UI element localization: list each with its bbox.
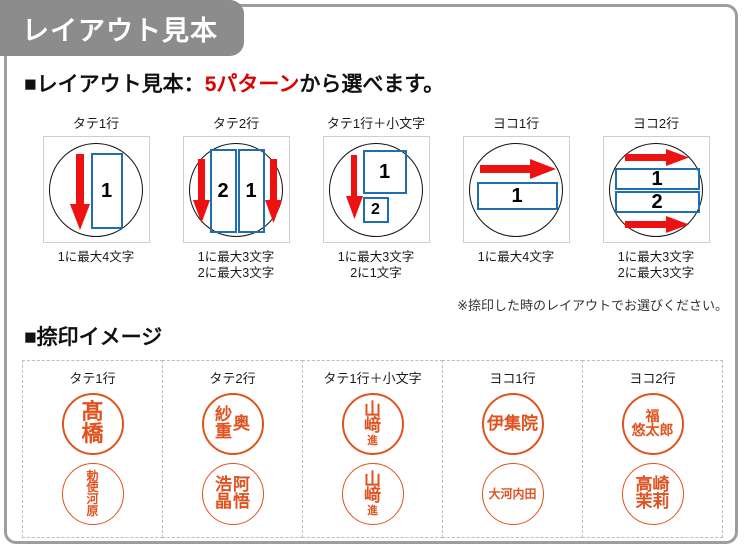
seal-column-1: 奥 xyxy=(233,416,250,433)
seal-char: 太 xyxy=(646,424,660,438)
seal-impression: 勅 使 河 原 xyxy=(62,463,124,525)
pattern-diagram: 1 xyxy=(463,136,570,243)
pattern-diagram: 1 2 xyxy=(323,136,430,243)
seal-impression: 山 﨑 進 xyxy=(342,393,404,455)
seal-group: 髙 橋 勅 使 河 原 xyxy=(62,393,124,525)
pattern-title: タテ2行 xyxy=(213,113,259,132)
panel-title: ヨコ1行 xyxy=(489,368,535,387)
seal-text-horizontal: 伊 集 院 xyxy=(487,416,538,433)
panel-title: タテ1行＋小文字 xyxy=(323,368,421,387)
seal-column-2: 紗 重 xyxy=(215,407,232,440)
pattern-tate-2gyo[interactable]: タテ2行 2 1 1に最大3文字 2に最大3文字 xyxy=(166,113,306,281)
text-area-box-1: 1 xyxy=(238,149,265,233)
seal-text-vertical: 髙 橋 xyxy=(81,402,103,445)
pattern-tate-1gyo[interactable]: タテ1行 1 1に最大4文字 xyxy=(26,113,166,281)
seal-char: 﨑 xyxy=(364,488,381,504)
layout-note: ※捺印した時のレイアウトでお選びください。 xyxy=(457,295,728,314)
seal-text-horizontal: 大 河 内 田 xyxy=(488,488,536,500)
pattern-caption: 1に最大4文字 xyxy=(58,250,134,266)
seal-char: 院 xyxy=(521,416,538,433)
seal-char: 内 xyxy=(513,488,525,500)
seal-group: 山 﨑 進 山 﨑 進 xyxy=(342,393,404,525)
pattern-caption: 1に最大3文字 2に最大3文字 xyxy=(618,250,694,281)
seal-char: 橋 xyxy=(81,424,103,446)
pattern-yoko-2gyo[interactable]: ヨコ2行 1 2 1に最大3文字 2に最大3文字 xyxy=(586,113,726,281)
seal-char: 重 xyxy=(215,424,232,441)
seal-char: 﨑 xyxy=(364,418,381,434)
seal-impression: 阿 悟 浩 晶 xyxy=(202,463,264,525)
seal-char: 郎 xyxy=(660,424,674,438)
seal-char: 集 xyxy=(504,416,521,433)
panel-title: タテ2行 xyxy=(209,368,255,387)
text-area-box-2: 2 xyxy=(363,197,389,223)
caption-line: 1に最大3文字 xyxy=(338,250,414,266)
seal-char: 茉 xyxy=(636,494,653,511)
caption-line: 2に最大3文字 xyxy=(618,266,694,282)
seal-char: 悟 xyxy=(233,494,250,511)
caption-line: 1に最大4文字 xyxy=(478,250,554,266)
text-area-box-1: 1 xyxy=(363,150,407,194)
caption-line: 1に最大3文字 xyxy=(198,250,274,266)
text-area-box-1: 1 xyxy=(615,168,700,190)
stamp-panel-tate-2gyo[interactable]: タテ2行 奥 紗 重 阿 xyxy=(162,360,303,538)
seal-text-vertical-small: 山 﨑 進 xyxy=(364,472,381,515)
right-arrow-icon-bottom xyxy=(625,216,689,233)
seal-column-1: 阿 悟 xyxy=(233,477,250,510)
seal-char-small: 進 xyxy=(367,436,378,446)
pattern-title: ヨコ2行 xyxy=(633,113,679,132)
seal-group: 伊 集 院 大 河 内 田 xyxy=(482,393,544,525)
seal-char: 河 xyxy=(500,488,512,500)
seal-char: 奥 xyxy=(233,416,250,433)
text-area-box-1: 1 xyxy=(91,153,123,229)
heading-accent: 5パターン xyxy=(205,73,300,96)
panel-title: ヨコ2行 xyxy=(629,368,675,387)
seal-line-2: 悠 太 郎 xyxy=(632,424,674,438)
right-arrow-icon-top xyxy=(625,149,689,166)
seal-impression: 福 悠 太 郎 xyxy=(622,393,684,455)
seal-char: 莉 xyxy=(653,494,670,511)
heading-suffix: から選べます。 xyxy=(299,73,444,96)
right-arrow-icon xyxy=(480,159,556,179)
seal-impression: 奥 紗 重 xyxy=(202,393,264,455)
down-arrow-icon xyxy=(346,155,363,219)
seal-char: 福 xyxy=(646,410,660,424)
text-area-box-2: 2 xyxy=(615,191,700,213)
pattern-diagram: 1 2 xyxy=(603,136,710,243)
stamp-panel-tate-1gyo[interactable]: タテ1行 髙 橋 勅 使 河 原 xyxy=(22,360,163,538)
seal-char: 田 xyxy=(525,488,537,500)
pattern-yoko-1gyo[interactable]: ヨコ1行 1 1に最大4文字 xyxy=(446,113,586,281)
page-title: レイアウト見本 xyxy=(22,9,218,48)
seal-text-horizontal-2line: 福 悠 太 郎 xyxy=(632,410,674,438)
pattern-caption: 1に最大4文字 xyxy=(478,250,554,266)
text-area-box-2: 2 xyxy=(210,149,237,233)
pattern-diagram: 1 xyxy=(43,136,150,243)
header-tab: レイアウト見本 xyxy=(0,0,244,56)
down-arrow-icon-left xyxy=(193,159,210,223)
stamp-panel-yoko-2gyo[interactable]: ヨコ2行 福 悠 太 郎 xyxy=(582,360,723,538)
stamp-section-heading: ■捺印イメージ xyxy=(24,321,162,351)
seal-impression: 大 河 内 田 xyxy=(482,463,544,525)
layout-guide-page: レイアウト見本 ■レイアウト見本：5パターンから選べます。 タテ1行 1 1に最… xyxy=(0,0,750,560)
pattern-diagram: 2 1 xyxy=(183,136,290,243)
seal-text-vertical-2col: 奥 紗 重 xyxy=(215,407,250,440)
caption-line: 1に最大4文字 xyxy=(58,250,134,266)
pattern-row: タテ1行 1 1に最大4文字 タテ2行 2 1 xyxy=(26,113,726,281)
seal-char: 悠 xyxy=(632,424,646,438)
seal-char: 原 xyxy=(86,506,98,518)
pattern-title: タテ1行 xyxy=(73,113,119,132)
pattern-tate-1gyo-kogaki[interactable]: タテ1行＋小文字 1 2 1に最大3文字 2に1文字 xyxy=(306,113,446,281)
seal-group: 奥 紗 重 阿 悟 浩 xyxy=(202,393,264,525)
seal-impression: 伊 集 院 xyxy=(482,393,544,455)
seal-text-vertical: 勅 使 河 原 xyxy=(86,471,98,518)
seal-text-vertical-small: 山 﨑 進 xyxy=(364,402,381,445)
seal-column-2: 浩 晶 xyxy=(215,477,232,510)
seal-impression: 髙 橋 xyxy=(62,393,124,455)
seal-line-2: 茉 莉 xyxy=(636,494,670,511)
panel-title: タテ1行 xyxy=(69,368,115,387)
layout-section-heading: ■レイアウト見本：5パターンから選べます。 xyxy=(24,68,444,98)
seal-line-1: 福 xyxy=(646,410,660,424)
seal-char-small: 進 xyxy=(367,506,378,516)
seal-group: 福 悠 太 郎 高 崎 xyxy=(622,393,684,525)
caption-line: 1に最大3文字 xyxy=(618,250,694,266)
stamp-panel-tate-1gyo-kogaki[interactable]: タテ1行＋小文字 山 﨑 進 山 﨑 進 xyxy=(302,360,443,538)
seal-impression: 山 﨑 進 xyxy=(342,463,404,525)
text-area-box-1: 1 xyxy=(477,182,558,210)
seal-impression: 高 崎 茉 莉 xyxy=(622,463,684,525)
caption-line: 2に1文字 xyxy=(338,266,414,282)
stamp-sample-row: タテ1行 髙 橋 勅 使 河 原 xyxy=(22,360,728,538)
caption-line: 2に最大3文字 xyxy=(198,266,274,282)
seal-char: 伊 xyxy=(487,416,504,433)
heading-prefix: ■レイアウト見本： xyxy=(24,73,205,96)
seal-text-vertical-2col: 阿 悟 浩 晶 xyxy=(215,477,250,510)
pattern-title: タテ1行＋小文字 xyxy=(327,113,425,132)
pattern-caption: 1に最大3文字 2に最大3文字 xyxy=(198,250,274,281)
seal-char: 晶 xyxy=(215,494,232,511)
seal-char: 大 xyxy=(488,488,500,500)
down-arrow-icon xyxy=(70,154,90,230)
stamp-panel-yoko-1gyo[interactable]: ヨコ1行 伊 集 院 大 河 内 田 xyxy=(442,360,583,538)
seal-text-horizontal-2line: 高 崎 茉 莉 xyxy=(636,477,670,511)
pattern-title: ヨコ1行 xyxy=(493,113,539,132)
down-arrow-icon-right xyxy=(265,159,282,223)
pattern-caption: 1に最大3文字 2に1文字 xyxy=(338,250,414,281)
